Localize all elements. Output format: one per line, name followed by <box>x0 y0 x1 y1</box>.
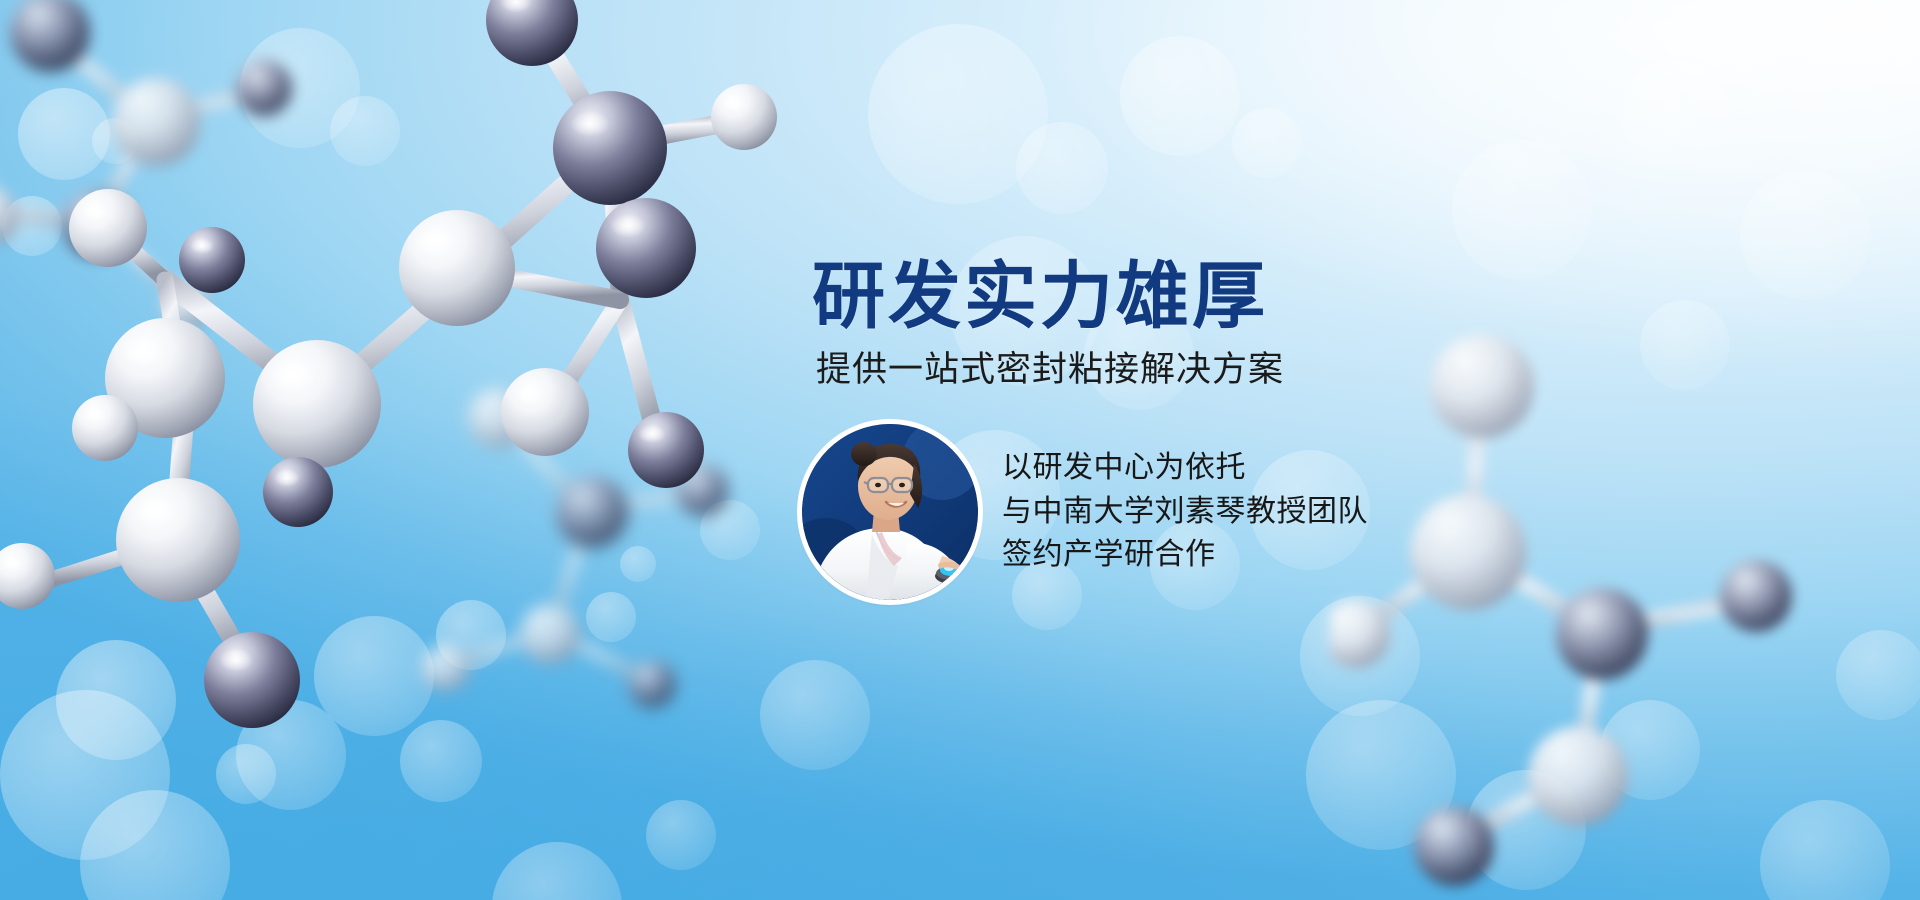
molecule-main <box>0 0 860 760</box>
bokeh-circle <box>240 28 360 148</box>
credit-line-2: 与中南大学刘素琴教授团队 <box>1002 490 1368 534</box>
credit-line-3: 签约产学研合作 <box>1002 533 1368 577</box>
bokeh-circle <box>436 600 506 670</box>
bokeh-circle <box>236 700 346 810</box>
bokeh-circle <box>1836 630 1920 720</box>
bokeh-circle <box>1300 596 1420 716</box>
bokeh-circle <box>1640 300 1730 390</box>
bokeh-circle <box>330 96 400 166</box>
bokeh-circle <box>1016 122 1108 214</box>
bokeh-circle <box>646 800 716 870</box>
researcher-photo-icon <box>802 424 978 600</box>
bokeh-circle <box>1600 700 1700 800</box>
avatar <box>802 424 978 600</box>
bokeh-circle <box>0 690 170 860</box>
hero-banner: 研发实力雄厚 提供一站式密封粘接解决方案 <box>0 0 1920 900</box>
hero-subtitle: 提供一站式密封粘接解决方案 <box>816 349 1512 391</box>
bokeh-circle <box>620 546 656 582</box>
molecule-blur-mid <box>380 380 800 800</box>
bokeh-circle <box>700 500 760 560</box>
bokeh-circle <box>56 640 176 760</box>
bokeh-circle <box>92 118 138 164</box>
bokeh-circle <box>1120 36 1240 156</box>
bokeh-circle <box>586 592 636 642</box>
credit-row: 以研发中心为依托 与中南大学刘素琴教授团队 签约产学研合作 <box>802 424 1562 614</box>
bokeh-circle <box>314 616 434 736</box>
bokeh-circle <box>492 842 622 900</box>
bokeh-circle <box>1232 108 1302 178</box>
credit-lines: 以研发中心为依托 与中南大学刘素琴教授团队 签约产学研合作 <box>1002 446 1368 577</box>
bokeh-circle <box>2 196 62 256</box>
bokeh-circle <box>760 660 870 770</box>
bokeh-circle <box>1740 170 1870 300</box>
bokeh-circle <box>1760 800 1890 900</box>
bokeh-circle <box>216 744 276 804</box>
page-title: 研发实力雄厚 <box>812 258 1512 335</box>
molecule-blur-left <box>0 0 360 390</box>
bokeh-circle <box>150 320 208 378</box>
bokeh-circle <box>1306 700 1456 850</box>
bokeh-circle <box>868 24 1048 204</box>
bokeh-circle <box>80 790 230 900</box>
credit-line-1: 以研发中心为依托 <box>1002 446 1368 490</box>
bokeh-circle <box>1466 770 1586 890</box>
hero-text-column: 研发实力雄厚 提供一站式密封粘接解决方案 <box>812 258 1512 391</box>
bokeh-circle <box>18 88 110 180</box>
bokeh-circle <box>400 720 482 802</box>
bokeh-circle <box>1620 60 1730 170</box>
